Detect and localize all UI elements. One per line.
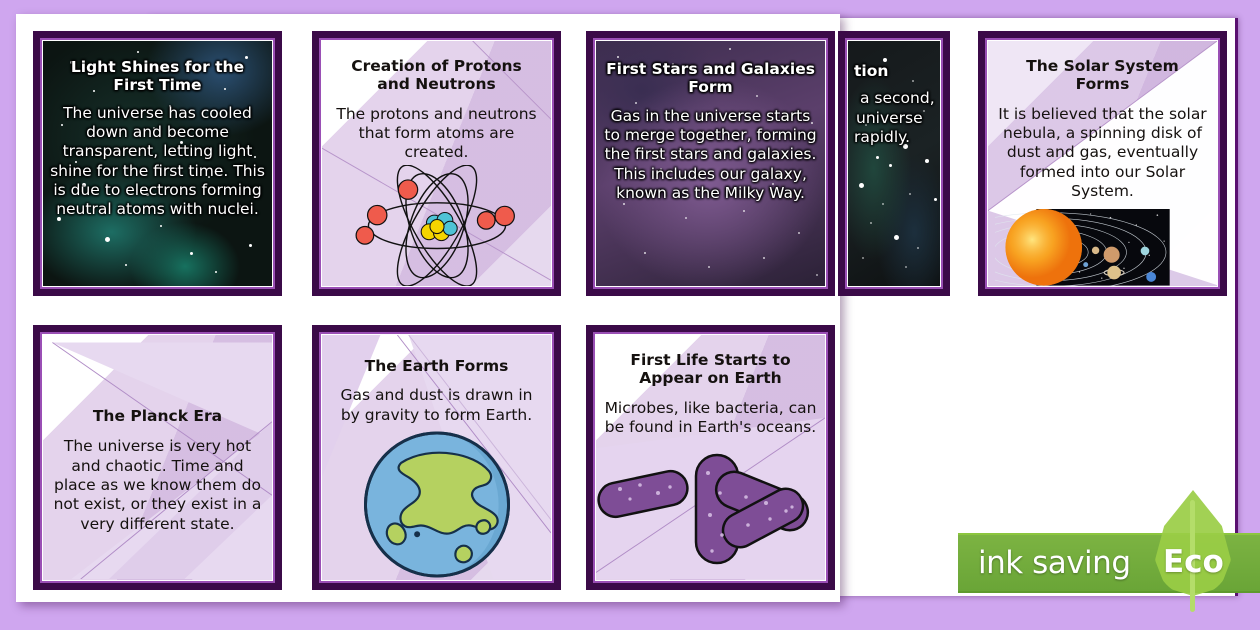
bacteria-icon — [596, 449, 825, 569]
card-body-fragment-1: a second, — [848, 89, 940, 108]
solar-system-photo — [995, 209, 1211, 286]
card-title: Creation of Protons and Neutrons — [343, 57, 531, 94]
card-body: Gas and dust is drawn in by gravity to f… — [329, 386, 544, 425]
card-body: Gas in the universe starts to merge toge… — [603, 107, 818, 204]
earth-globe-icon — [361, 429, 513, 580]
card-the-earth-forms[interactable]: The Earth Forms Gas and dust is drawn in… — [312, 325, 561, 590]
card-title: Light Shines for the First Time — [52, 58, 263, 95]
card-body-fragment-2: universe — [848, 109, 940, 128]
card-body: It is believed that the solar nebula, a … — [995, 105, 1210, 202]
card-title: The Earth Forms — [333, 357, 539, 375]
card-inflation-occluded[interactable]: tion a second, universe rapidly. — [838, 31, 950, 296]
card-body-fragment-3: rapidly. — [848, 128, 940, 147]
card-light-shines[interactable]: Light Shines for the First Time The univ… — [33, 31, 282, 296]
card-body: The universe has cooled down and become … — [49, 104, 267, 220]
worksheet-preview: Light Shines for the First Time The univ… — [0, 0, 1260, 630]
card-first-life-starts-to-appear-on-earth[interactable]: First Life Starts to Appear on Earth Mic… — [586, 325, 835, 590]
card-body: The protons and neutrons that form atoms… — [331, 105, 542, 163]
card-body: The universe is very hot and chaotic. Ti… — [52, 437, 263, 534]
card-title: The Solar System Forms — [997, 57, 1208, 94]
atom-icon — [342, 165, 532, 286]
card-body: Microbes, like bacteria, can be found in… — [603, 399, 818, 438]
ink-saving-label: ink saving — [978, 545, 1131, 581]
card-title: First Life Starts to Appear on Earth — [628, 351, 793, 388]
card-the-planck-era[interactable]: The Planck Era The universe is very hot … — [33, 325, 282, 590]
card-creation-of-protons-and-neutrons[interactable]: Creation of Protons and Neutrons The pro… — [312, 31, 561, 296]
card-title-fragment: tion — [848, 62, 940, 80]
card-title: The Planck Era — [54, 407, 260, 425]
eco-label: Eco — [1163, 544, 1224, 580]
card-first-stars-and-galaxies-form[interactable]: First Stars and Galaxies Form Gas in the… — [586, 31, 835, 296]
card-the-solar-system-forms[interactable]: The Solar System Forms It is believed th… — [978, 31, 1227, 296]
card-title: First Stars and Galaxies Form — [603, 60, 818, 97]
